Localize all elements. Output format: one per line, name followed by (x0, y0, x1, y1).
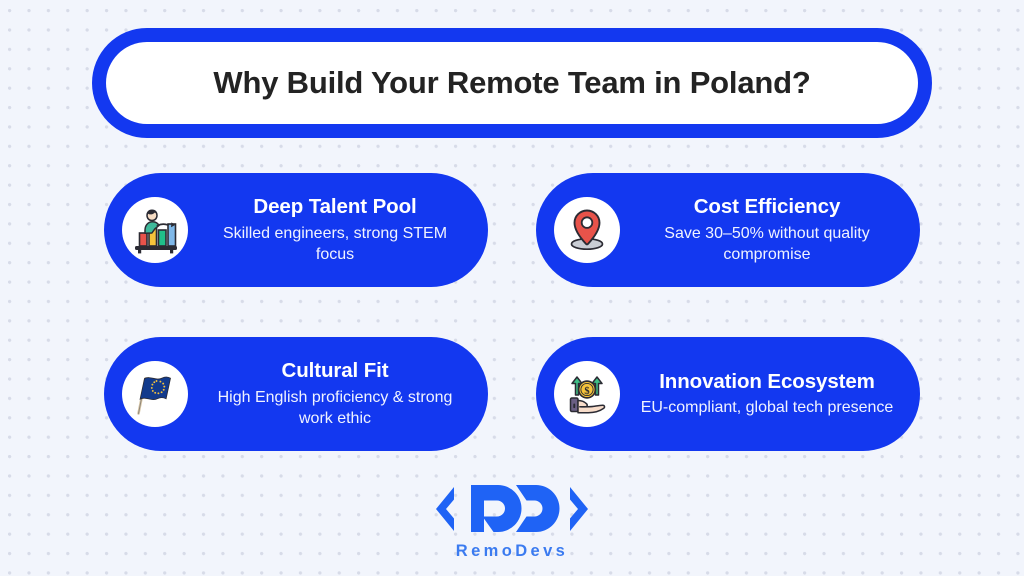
feature-card-description: Skilled engineers, strong STEM focus (204, 223, 466, 265)
page-title: Why Build Your Remote Team in Poland? (213, 66, 810, 100)
slide-canvas: Why Build Your Remote Team in Poland? (0, 0, 1024, 576)
feature-card-title: Innovation Ecosystem (659, 370, 875, 395)
feature-card-description: EU-compliant, global tech presence (641, 397, 894, 418)
rd-angle-bracket-logo (424, 478, 600, 540)
feature-card-title: Deep Talent Pool (253, 195, 416, 220)
feature-card-body: Cost Efficiency Save 30–50% without qual… (628, 195, 906, 265)
feature-card-description: High English proficiency & strong work e… (204, 387, 466, 429)
feature-card-body: Innovation Ecosystem EU-compliant, globa… (628, 370, 906, 419)
brand-wordmark: RemoDevs (456, 542, 569, 561)
title-banner: Why Build Your Remote Team in Poland? (92, 28, 932, 138)
feature-card-body: Deep Talent Pool Skilled engineers, stro… (196, 195, 474, 265)
map-pin-icon (554, 197, 620, 263)
title-banner-inner: Why Build Your Remote Team in Poland? (106, 42, 918, 124)
feature-card-body: Cultural Fit High English proficiency & … (196, 359, 474, 429)
feature-card-cost-efficiency[interactable]: Cost Efficiency Save 30–50% without qual… (536, 173, 920, 287)
hand-money-growth-icon: $ (554, 361, 620, 427)
feature-card-deep-talent-pool[interactable]: Deep Talent Pool Skilled engineers, stro… (104, 173, 488, 287)
brand-logo: RemoDevs (0, 478, 1024, 561)
feature-card-title: Cost Efficiency (694, 195, 841, 220)
feature-card-description: Save 30–50% without quality compromise (636, 223, 898, 265)
feature-card-cultural-fit[interactable]: Cultural Fit High English proficiency & … (104, 337, 488, 451)
feature-card-title: Cultural Fit (282, 359, 389, 384)
feature-card-innovation-ecosystem[interactable]: $ Innovation Ecosystem EU-compliant, glo… (536, 337, 920, 451)
talent-growth-chart-icon (122, 197, 188, 263)
svg-text:$: $ (584, 386, 589, 397)
eu-flag-icon (122, 361, 188, 427)
